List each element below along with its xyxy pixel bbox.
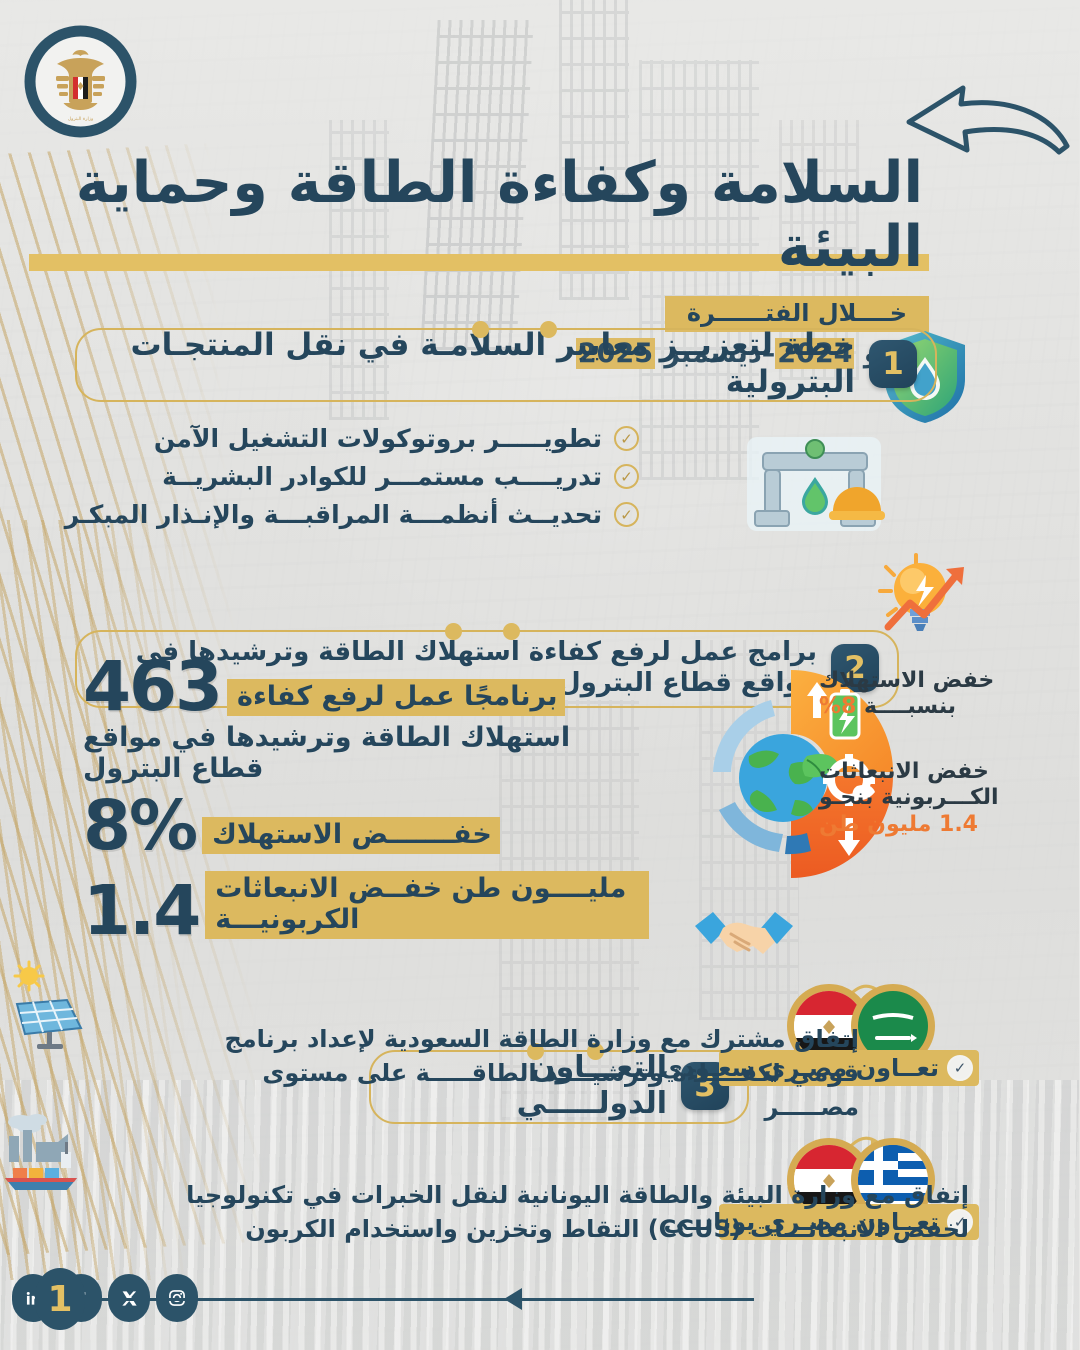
- donut-label-2-unit: مليون طن: [820, 812, 932, 837]
- donut-labels: خفض الاستهلاك بنسبــــة 8% خفض الانبعاثا…: [820, 668, 1060, 838]
- solar-panel-icon: [10, 960, 95, 1050]
- donut-label-1-line2: بنسبــــة: [865, 694, 957, 719]
- section-1-bullet-list: ✓ تطويـــــر بروتوكولات التشغيل الآمن ✓ …: [80, 424, 640, 538]
- stat-number: 8%: [84, 794, 197, 860]
- donut-label-1-value: 8%: [820, 694, 857, 719]
- factory-ship-icon: [0, 1112, 90, 1192]
- bullet-text: تحديــث أنظمـــة المراقبـــة والإنـذار ا…: [66, 500, 603, 529]
- check-icon: ✓: [948, 1055, 974, 1081]
- stat-row: 8% خفـــــــض الاستهلاك: [84, 794, 650, 860]
- donut-label-1-line1: خفض الاستهلاك: [820, 668, 1060, 694]
- check-icon: ✓: [615, 426, 640, 451]
- bullet-text: تدريــــب مستمـــر للكوادر البشريــة: [163, 462, 603, 491]
- arrow-right-icon: [505, 1288, 523, 1310]
- ministry-logo: وزارة البترول وزارة البترول والثروة المع…: [24, 24, 139, 139]
- stat-row: 463 برنامجًا عمل لرفع كفاءة: [84, 655, 650, 721]
- pipeline-safety-icon: [730, 425, 900, 540]
- page-title-text: السلامة وكفاءة الطاقة وحماية البيئة: [77, 150, 924, 280]
- page-title: السلامة وكفاءة الطاقة وحماية البيئة: [30, 152, 930, 280]
- list-item: ✓ تطويـــــر بروتوكولات التشغيل الآمن: [80, 424, 640, 453]
- handshake-icon: [690, 900, 800, 970]
- section-1-number: 1: [870, 340, 918, 388]
- stat-label: مليــــون طن خفــض الانبعاثات الكربونيــ…: [206, 871, 650, 939]
- list-item: ✓ تدريــــب مستمـــر للكوادر البشريــة: [80, 462, 640, 491]
- cooperation-paragraph-greece: إتفاق مع وزارة البيئة والطاقة اليونانية …: [125, 1178, 970, 1246]
- section-1-title: خطة لتعزيــز معايير السلامـة في نقل المن…: [96, 327, 856, 401]
- stat-number: 463: [84, 655, 222, 721]
- bullet-text: تطويـــــر بروتوكولات التشغيل الآمن: [155, 424, 603, 453]
- period-label: خــــلال الفتــــــرة: [688, 299, 908, 327]
- donut-label-consumption: خفض الاستهلاك بنسبــــة 8%: [820, 668, 1060, 721]
- section-1-header: 1 خطة لتعزيــز معايير السلامـة في نقل ال…: [76, 328, 938, 402]
- stat-label: برنامجًا عمل لرفع كفاءة: [228, 679, 566, 716]
- cooperation-paragraph-saudi: إتفاق مشترك مع وزارة الطاقة السعودية لإع…: [220, 1022, 860, 1124]
- stat-row: 1.4 مليــــون طن خفــض الانبعاثات الكربو…: [84, 871, 650, 944]
- statistics-block: 463 برنامجًا عمل لرفع كفاءة استهلاك الطا…: [84, 655, 650, 944]
- donut-label-2-line1: خفض الانبعاثات: [820, 759, 1060, 785]
- footer: 1: [0, 1268, 1080, 1328]
- stat-sub: استهلاك الطاقة وترشيدها في مواقع قطاع ال…: [84, 722, 650, 784]
- donut-label-emissions: خفض الانبعاثات الكـــربونية بنحـو 1.4 مل…: [820, 759, 1060, 838]
- footer-line: [60, 1298, 755, 1301]
- donut-label-2-line2: الكـــربونية بنحـو: [820, 785, 1060, 811]
- check-icon: ✓: [615, 502, 640, 527]
- donut-label-2-value: 1.4: [940, 812, 979, 837]
- list-item: ✓ تحديــث أنظمـــة المراقبـــة والإنـذار…: [80, 500, 640, 529]
- stat-label: خفـــــــض الاستهلاك: [203, 817, 501, 854]
- page-number: 1: [36, 1268, 86, 1330]
- stat-number: 1.4: [84, 879, 200, 945]
- svg-text:وزارة البترول: وزارة البترول: [69, 117, 94, 122]
- check-icon: ✓: [615, 464, 640, 489]
